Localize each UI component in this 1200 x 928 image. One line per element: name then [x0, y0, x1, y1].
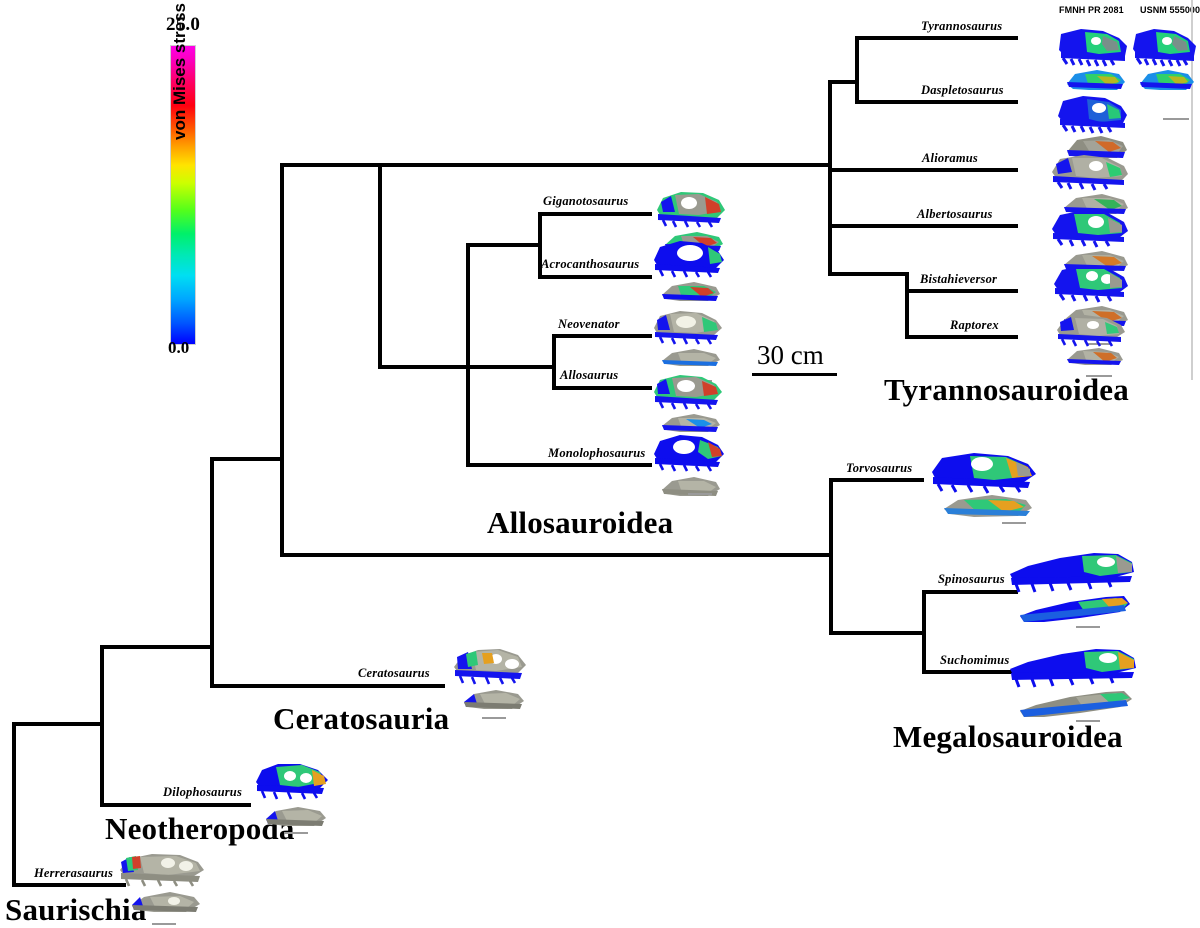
fea-skull-tyrannosaurus-usnm [1130, 22, 1200, 112]
taxon-label-spinosaurus: Spinosaurus [938, 572, 1005, 587]
scale-bar-label: 30 cm [757, 340, 824, 371]
scale-tick-torvosaurus [1002, 522, 1026, 524]
tree-branch-root-vertical [12, 722, 16, 887]
scale-bar-line [752, 373, 837, 376]
tree-branch-allosauroidea-stem [380, 365, 470, 369]
taxon-label-acrocanthosaurus: Acrocanthosaurus [541, 257, 639, 272]
colorbar-min-label: 0.0 [168, 338, 238, 358]
taxon-label-neovenator: Neovenator [558, 317, 620, 332]
taxon-label-monolophosaurus: Monolophosaurus [548, 446, 646, 461]
tree-branch-suchomimus [922, 670, 1018, 674]
fea-skull-neovenator [652, 308, 724, 378]
tree-branch-megalosauroidea-vertical [829, 478, 833, 634]
taxon-label-tyrannosaurus: Tyrannosaurus [921, 19, 1002, 34]
fea-skull-spinosaurus [1008, 548, 1138, 634]
figure-canvas: 25.0 0.0 von Mises stress (MPa) FMNH PR … [0, 0, 1200, 927]
tree-branch-tyrannosaurus [855, 36, 1018, 40]
scale-tick-suchomimus [1076, 720, 1100, 722]
fea-skull-acrocanthosaurus [652, 238, 726, 314]
tree-branch-albertosaurus [828, 224, 1018, 228]
tree-branch-allosauria-vertical [552, 334, 556, 390]
tree-branch-basal-tyrannosauroid-vertical [905, 272, 909, 338]
tree-branch-to-tyrannosauroidea [280, 163, 832, 167]
fea-skull-herrerasaurus [118, 850, 208, 922]
tree-branch-tyrannosauroidea-vertical [828, 80, 832, 276]
taxon-label-dilophosaurus: Dilophosaurus [163, 785, 242, 800]
clade-label-tyrannosauroidea: Tyrannosauroidea [884, 372, 1129, 408]
colorbar-axis-title: von Mises stress (MPa) [170, 0, 190, 140]
tree-branch-monolophosaurus [466, 463, 652, 467]
scale-tick-dilophosaurus [284, 832, 308, 834]
tree-branch-avetheropoda-vertical [280, 163, 284, 557]
tree-branch-herrerasaurus [12, 883, 126, 887]
fea-skull-ceratosaurus [452, 645, 530, 723]
tree-branch-spinosaurus [922, 590, 1018, 594]
scale-tick-herrerasaurus [152, 923, 176, 925]
tree-branch-spinosauridae-vertical [922, 590, 926, 673]
tree-branch-ceratosaurus [210, 684, 445, 688]
taxon-label-suchomimus: Suchomimus [940, 653, 1009, 668]
tree-branch-tyrannosaurinae-vertical [855, 36, 859, 104]
tree-branch-neovenator [552, 334, 652, 338]
specimen-id-fmnh: FMNH PR 2081 [1059, 5, 1124, 15]
tree-branch-to-avetheropoda [210, 457, 284, 461]
tree-branch-torvosaurus [829, 478, 924, 482]
tree-branch-to-neotheropoda [12, 722, 104, 726]
taxon-label-allosaurus: Allosaurus [560, 368, 618, 383]
tree-branch-allosauria-stem [466, 365, 554, 369]
taxon-label-torvosaurus: Torvosaurus [846, 461, 912, 476]
taxon-label-albertosaurus: Albertosaurus [917, 207, 993, 222]
scale-tick-ceratosaurus [482, 717, 506, 719]
tree-branch-to-ceratosauria [100, 645, 214, 649]
fea-skull-dilophosaurus [254, 760, 332, 840]
fea-skull-torvosaurus [930, 450, 1040, 530]
tree-branch-spinosauridae-stem [829, 631, 925, 635]
tree-branch-dilophosaurus [100, 803, 251, 807]
taxon-label-alioramus: Alioramus [922, 151, 978, 166]
tree-branch-raptorex [905, 335, 1018, 339]
tree-branch-ceratosauria-vertical [210, 457, 214, 688]
taxon-label-ceratosaurus: Ceratosaurus [358, 666, 430, 681]
taxon-label-giganotosaurus: Giganotosaurus [543, 194, 628, 209]
tree-branch-neotheropoda-vertical [100, 645, 104, 807]
fea-skull-raptorex [1055, 312, 1129, 372]
scale-tick-tyrannosaurus-usnm [1163, 118, 1189, 120]
tree-branch-bistahieversor [905, 289, 1018, 293]
tree-branch-alioramus [828, 168, 1018, 172]
tree-branch-acrocanthosaurus [538, 275, 652, 279]
scale-tick-monolophosaurus [688, 493, 712, 495]
scale-tick-spinosaurus [1076, 626, 1100, 628]
taxon-label-herrerasaurus: Herrerasaurus [34, 866, 113, 881]
scale-tick-raptorex [1086, 375, 1112, 377]
clade-label-ceratosauria: Ceratosauria [273, 701, 449, 737]
taxon-label-raptorex: Raptorex [950, 318, 999, 333]
tree-branch-basal-tyrannosauroid-stem [828, 272, 908, 276]
taxon-label-daspletosaurus: Daspletosaurus [921, 83, 1004, 98]
tree-branch-daspletosaurus [855, 100, 1018, 104]
tree-branch-tyrannosaurinae-stem [828, 80, 858, 84]
tree-branch-giganotosaurus [538, 212, 652, 216]
tree-branch-to-megalosauroidea [280, 553, 832, 557]
tree-branch-allosaurus [552, 386, 652, 390]
fea-skull-suchomimus [1008, 645, 1138, 729]
tree-branch-carcharodontosauria-stem [466, 243, 540, 247]
clade-label-allosauroidea: Allosauroidea [487, 505, 673, 541]
fea-skull-monolophosaurus [652, 432, 726, 510]
tree-branch-allosauroidea-stem-vertical [378, 163, 382, 369]
tree-branch-allosauroidea-vertical [466, 243, 470, 467]
taxon-label-bistahieversor: Bistahieversor [920, 272, 997, 287]
